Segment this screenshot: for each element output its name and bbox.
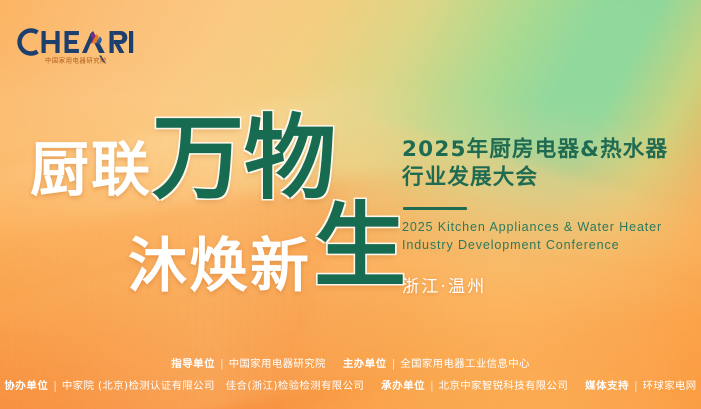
headline-green-part-2: 生	[314, 200, 406, 292]
event-title-en-line-1: 2025 Kitchen Appliances & Water Heater	[402, 218, 694, 236]
credit-separator: |	[53, 380, 57, 392]
credit-separator: |	[634, 380, 638, 392]
credit-group-media: 媒体支持 | 环球家电网	[585, 377, 696, 392]
credit-label: 承办单位	[381, 377, 425, 392]
credit-value: 环球家电网	[643, 377, 697, 392]
headline-white-part-1: 厨联	[30, 140, 152, 199]
credit-row-2: 协办单位 | 中家院 (北京)检测认证有限公司 佳合(浙江)检验检测有限公司 承…	[0, 377, 701, 392]
event-title-en-line-2: Industry Development Conference	[402, 236, 694, 254]
cheari-logo: 中国家用电器研究院 CHEARI 中国家用电器研究院	[16, 26, 156, 68]
credit-separator: |	[220, 358, 224, 370]
credit-row-1: 指导单位 | 中国家用电器研究院 主办单位 | 全国家用电器工业信息中心	[0, 355, 701, 370]
credit-group-organizer: 主办单位 | 全国家用电器工业信息中心	[343, 355, 530, 370]
credit-label: 主办单位	[343, 355, 387, 370]
credit-group-guidance: 指导单位 | 中国家用电器研究院	[171, 355, 326, 370]
credit-label: 指导单位	[171, 355, 215, 370]
event-location: 浙江·温州	[402, 272, 694, 297]
poster-headline: 厨联 万物 沐焕新 生	[24, 108, 414, 293]
conference-poster: 中国家用电器研究院 CHEARI 中国家用电器研究院 厨联 万物 沐焕新 生 2…	[0, 0, 701, 409]
cheari-logo-subtext: 中国家用电器研究院	[45, 55, 107, 64]
credit-separator: |	[392, 358, 396, 370]
credit-label: 协办单位	[4, 377, 48, 392]
credit-separator: |	[430, 380, 434, 392]
credit-label: 媒体支持	[585, 377, 629, 392]
credit-value: 中国家用电器研究院	[229, 355, 326, 370]
credit-value: 北京中家智锐科技有限公司	[439, 377, 569, 392]
headline-green-part-1: 万物	[152, 112, 336, 204]
event-title-cn-line-1: 2025年厨房电器&热水器	[402, 136, 694, 164]
credit-group-coorganizer-2: 佳合(浙江)检验检测有限公司	[226, 377, 364, 392]
event-title-cn-line-2: 行业发展大会	[402, 164, 694, 192]
credit-group-host: 承办单位 | 北京中家智锐科技有限公司	[381, 377, 568, 392]
event-info-block: 2025年厨房电器&热水器 行业发展大会 2025 Kitchen Applia…	[402, 136, 694, 297]
sponsor-credits: 指导单位 | 中国家用电器研究院 主办单位 | 全国家用电器工业信息中心 协办单…	[0, 355, 701, 392]
headline-white-part-2: 沐焕新	[128, 236, 311, 295]
title-divider-rule	[403, 207, 467, 210]
credit-value: 全国家用电器工业信息中心	[400, 355, 530, 370]
credit-value: 佳合(浙江)检验检测有限公司	[226, 377, 364, 392]
credit-value: 中家院 (北京)检测认证有限公司	[62, 377, 215, 392]
credit-group-coorganizer: 协办单位 | 中家院 (北京)检测认证有限公司	[4, 377, 214, 392]
